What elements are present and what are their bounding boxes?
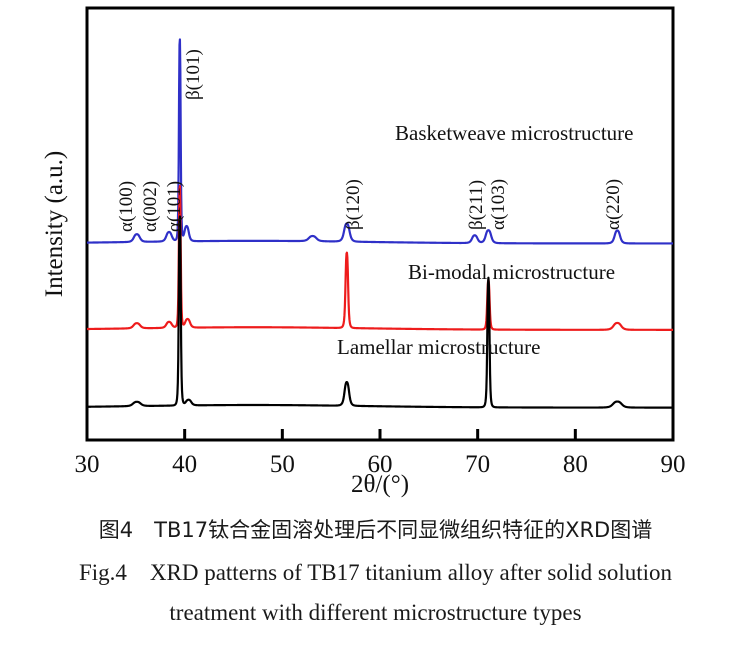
peak-label: β(101) bbox=[183, 49, 204, 100]
x-tick-label: 70 bbox=[465, 451, 490, 478]
xrd-chart: 30405060708090 α(100)α(002)β(101)α(101)β… bbox=[0, 0, 751, 510]
peak-label: β(120) bbox=[343, 179, 364, 230]
figure-caption: 图4 TB17钛合金固溶处理后不同显微组织特征的XRD图谱 Fig.4 XRD … bbox=[0, 508, 751, 624]
y-axis-title: Intensity (a.u.) bbox=[41, 151, 68, 297]
caption-english-line1: Fig.4 XRD patterns of TB17 titanium allo… bbox=[0, 561, 751, 584]
x-tick-label: 40 bbox=[172, 451, 197, 478]
series-label: Basketweave microstructure bbox=[395, 121, 634, 145]
peak-label: α(100) bbox=[116, 181, 137, 232]
x-axis-title: 2θ/(°) bbox=[351, 471, 409, 498]
xrd-figure: 30405060708090 α(100)α(002)β(101)α(101)β… bbox=[0, 0, 751, 510]
x-tick-label: 90 bbox=[661, 451, 686, 478]
x-tick-label: 50 bbox=[270, 451, 295, 478]
x-tick-label: 30 bbox=[75, 451, 100, 478]
peak-label: α(103) bbox=[488, 179, 509, 230]
caption-english-line2: treatment with different microstructure … bbox=[0, 601, 751, 624]
x-tick-label: 80 bbox=[563, 451, 588, 478]
peak-label: α(002) bbox=[140, 181, 161, 232]
peak-label: α(101) bbox=[164, 181, 185, 232]
peak-label: β(211) bbox=[466, 180, 487, 230]
curve-lamellar-microstructure bbox=[87, 217, 673, 408]
series-label: Bi-modal microstructure bbox=[408, 260, 615, 284]
x-axis-ticks bbox=[87, 429, 673, 440]
series-label: Lamellar microstructure bbox=[337, 335, 541, 359]
caption-chinese: 图4 TB17钛合金固溶处理后不同显微组织特征的XRD图谱 bbox=[0, 520, 751, 541]
peak-label: α(220) bbox=[603, 179, 624, 230]
